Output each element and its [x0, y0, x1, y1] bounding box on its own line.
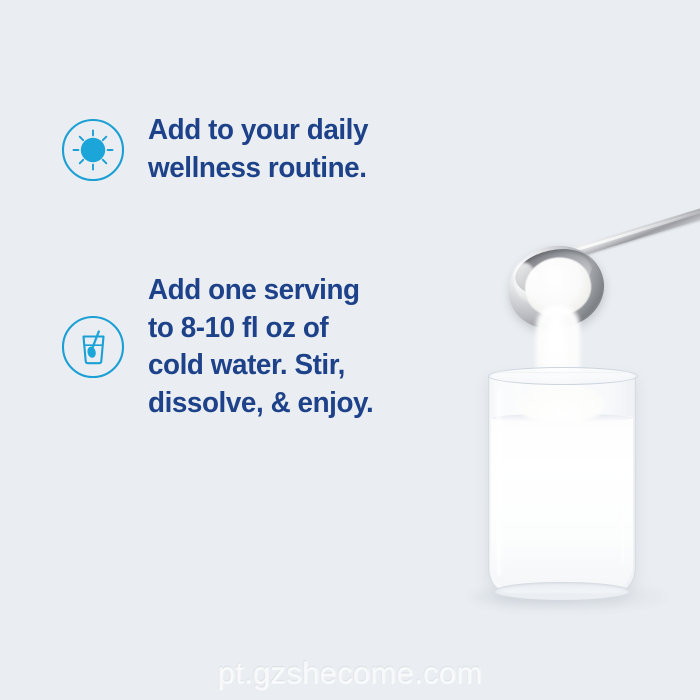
product-instruction-graphic: Add to your daily wellness routine. Add … [0, 0, 700, 700]
powder-mound [518, 384, 604, 422]
sun-icon [60, 117, 126, 183]
instruction-block-serving-directions: Add one serving to 8-10 fl oz of cold wa… [60, 272, 420, 423]
glass-rim [488, 367, 638, 385]
site-watermark: pt.gzshecome.com [0, 655, 700, 691]
glass-base [494, 582, 630, 600]
instruction-text-serving-directions: Add one serving to 8-10 fl oz of cold wa… [148, 272, 373, 423]
glass-with-spoon-icon [60, 314, 126, 380]
instruction-text-daily-routine: Add to your daily wellness routine. [148, 112, 368, 187]
glass-liquid [491, 416, 633, 589]
product-photo [440, 210, 700, 610]
glass-highlight-left [497, 388, 504, 576]
glass-tumbler [488, 372, 636, 594]
glass-highlight-right [619, 472, 624, 564]
instruction-block-daily-routine: Add to your daily wellness routine. [60, 112, 420, 187]
